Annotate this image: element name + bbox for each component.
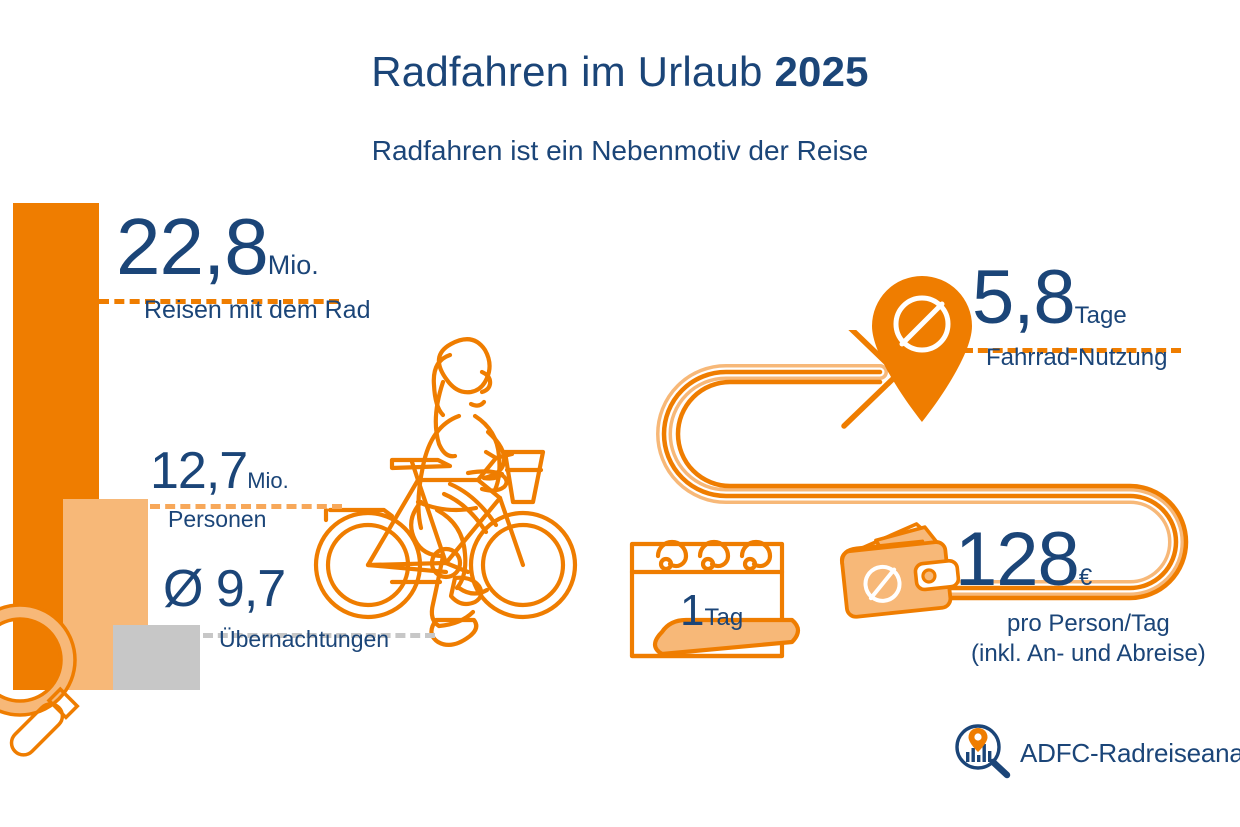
infographic-canvas: Radfahren im Urlaub 2025 Radfahren ist e… (0, 0, 1240, 827)
stat-reisen-value: 22,8 (116, 202, 268, 291)
stat-personen-value: 12,7 (150, 442, 247, 500)
title-year: 2025 (774, 48, 868, 95)
stat-uebernachtungen: Ø 9,7 Übernachtungen (163, 567, 389, 653)
adfc-logo-text: ADFC-Radreiseanalyse (1020, 738, 1240, 769)
calendar-day-value: 1 (680, 586, 704, 635)
stat-uebernachtungen-value: Ø 9,7 (163, 560, 285, 618)
adfc-logo: ADFC-Radreiseanalyse (952, 722, 1240, 785)
calendar-day-label: 1Tag (680, 586, 743, 636)
wallet-icon (830, 520, 970, 635)
adfc-magnifier-chart-icon (952, 722, 1012, 785)
stat-kosten: 128€ pro Person/Tag (inkl. An- und Abrei… (955, 527, 1206, 668)
title-main: Radfahren im Urlaub (371, 48, 774, 95)
stat-personen-unit: Mio. (247, 468, 289, 493)
stat-kosten-unit: € (1079, 564, 1092, 591)
stat-fahrrad-nutzung: 5,8Tage Fahrrad-Nutzung (972, 265, 1167, 372)
stat-reisen-mit-dem-rad: 22,8Mio. Reisen mit dem Rad (116, 212, 370, 325)
page-title: Radfahren im Urlaub 2025 (0, 48, 1240, 96)
calendar-day-unit: Tag (704, 604, 743, 631)
map-pin-icon (866, 272, 978, 429)
stat-reisen-unit: Mio. (268, 250, 319, 280)
stat-tage-value: 5,8 (972, 255, 1075, 340)
stat-tage-caption: Fahrrad-Nutzung (986, 344, 1167, 372)
stat-kosten-caption-2: (inkl. An- und Abreise) (971, 640, 1206, 668)
page-subtitle: Radfahren ist ein Nebenmotiv der Reise (0, 135, 1240, 167)
stat-personen-caption: Personen (168, 506, 289, 533)
stat-reisen-caption: Reisen mit dem Rad (144, 296, 370, 325)
magnifier-icon (0, 596, 158, 791)
stat-uebernachtungen-caption: Übernachtungen (219, 626, 389, 653)
stat-kosten-caption: pro Person/Tag (971, 610, 1206, 638)
stat-kosten-value: 128 (955, 517, 1079, 602)
stat-tage-unit: Tage (1075, 302, 1127, 329)
stat-personen: 12,7Mio. Personen (150, 449, 289, 533)
